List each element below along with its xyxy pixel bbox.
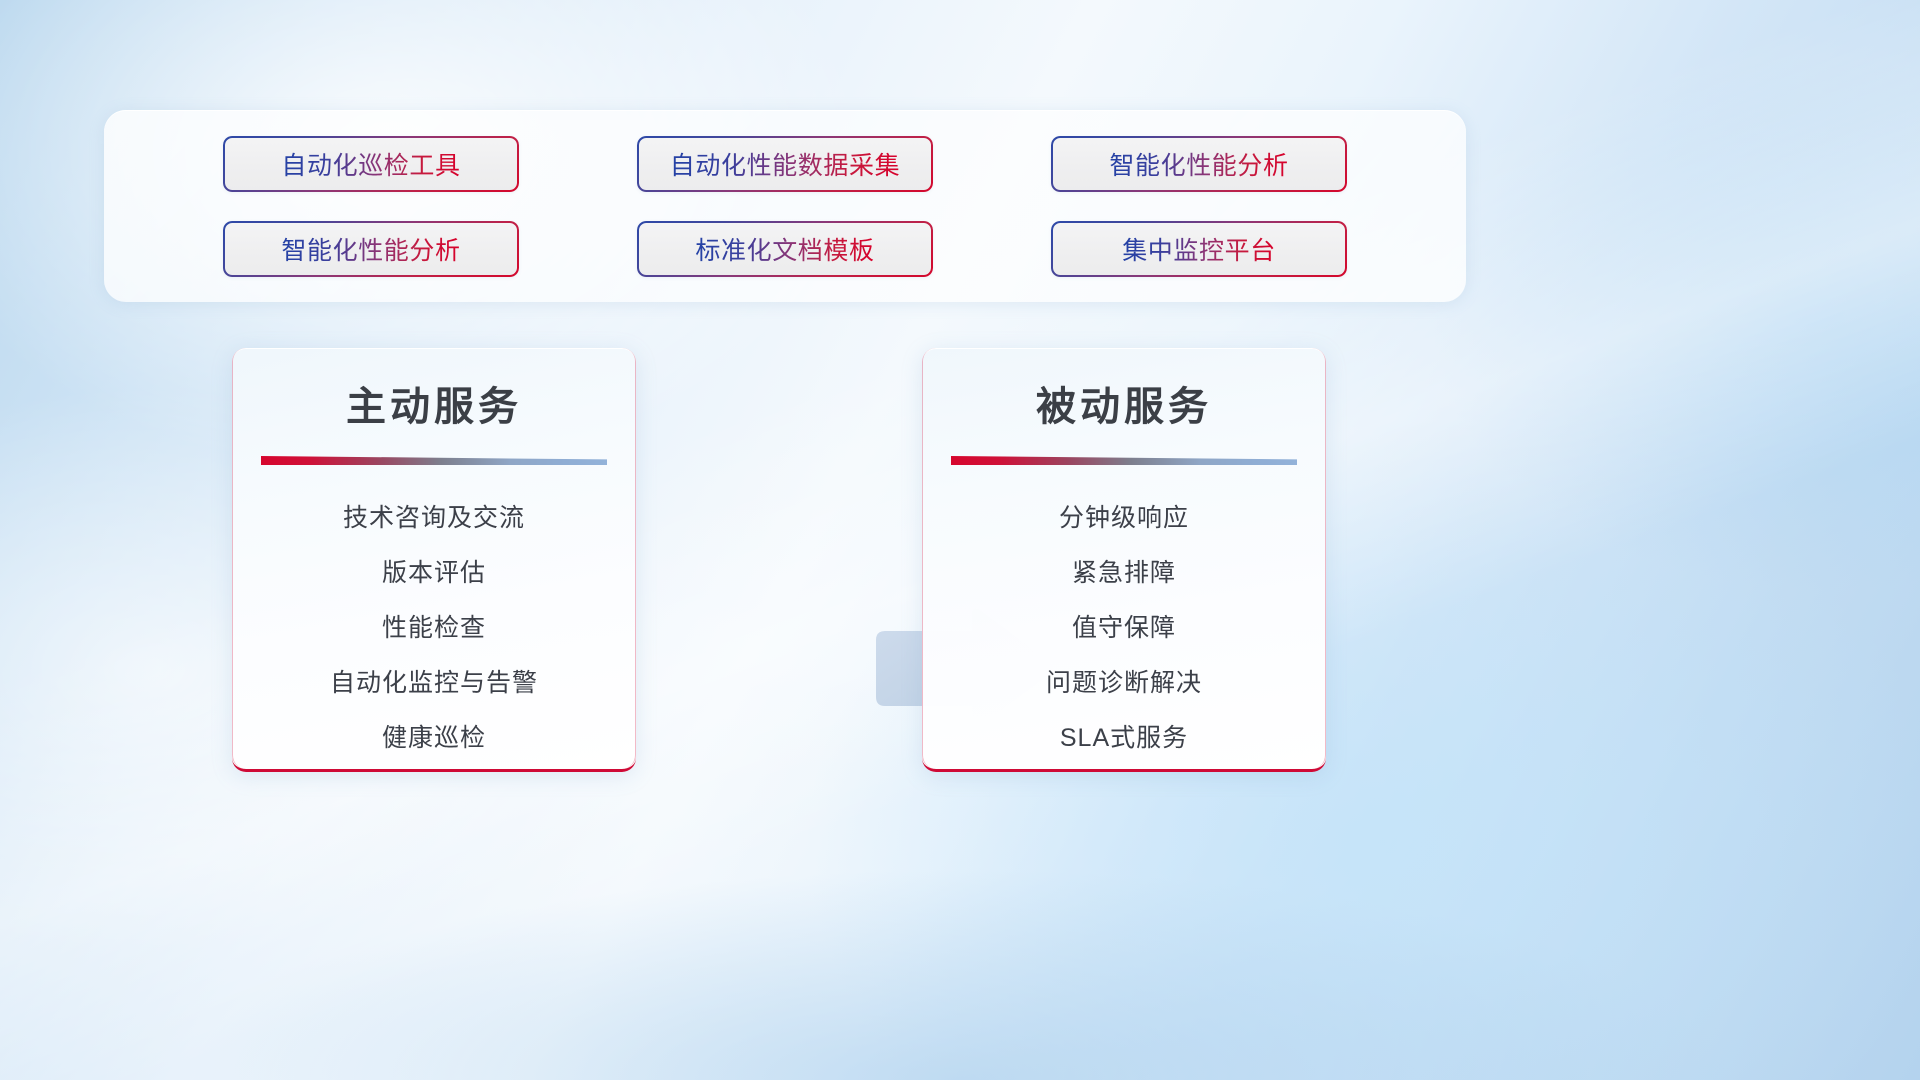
capability-chip-label: 集中监控平台 — [1122, 231, 1276, 267]
capability-chip-intelligent-performance-analysis-1[interactable]: 智能化性能分析 — [1051, 136, 1347, 192]
capability-chip-label: 自动化巡检工具 — [281, 146, 460, 182]
card-passive-service: 被动服务 分钟级响应 紧急排障 值守保障 问题诊断解决 SLA式服务 — [922, 348, 1326, 772]
card-service-list: 分钟级响应 紧急排障 值守保障 问题诊断解决 SLA式服务 — [922, 491, 1326, 766]
capability-chip-automated-inspection-tool[interactable]: 自动化巡检工具 — [223, 136, 519, 192]
card-divider — [951, 456, 1297, 465]
list-item: 问题诊断解决 — [922, 656, 1326, 711]
card-title: 被动服务 — [922, 374, 1326, 432]
list-item: 紧急排障 — [922, 546, 1326, 601]
list-item: 版本评估 — [232, 546, 636, 601]
list-item: 技术咨询及交流 — [232, 491, 636, 546]
card-service-list: 技术咨询及交流 版本评估 性能检查 自动化监控与告警 健康巡检 — [232, 491, 636, 766]
capability-chip-centralized-monitoring-platform[interactable]: 集中监控平台 — [1051, 221, 1347, 277]
list-item: SLA式服务 — [922, 711, 1326, 766]
capability-chip-label: 标准化文档模板 — [695, 231, 874, 267]
list-item: 性能检查 — [232, 601, 636, 656]
list-item: 分钟级响应 — [922, 491, 1326, 546]
capability-chip-standardized-document-template[interactable]: 标准化文档模板 — [637, 221, 933, 277]
card-divider — [261, 456, 607, 465]
capability-chip-label: 智能化性能分析 — [281, 231, 460, 267]
card-divider-bar — [261, 456, 607, 465]
card-active-service: 主动服务 技术咨询及交流 版本评估 性能检查 自动化监控与告警 健康巡检 — [232, 348, 636, 772]
capability-chip-label: 智能化性能分析 — [1109, 146, 1288, 182]
card-title: 主动服务 — [232, 374, 636, 432]
capability-panel: 自动化巡检工具 自动化性能数据采集 智能化性能分析 智能化性能分析 标准化文档模… — [104, 110, 1466, 302]
card-divider-bar — [951, 456, 1297, 465]
capability-chip-intelligent-performance-analysis-2[interactable]: 智能化性能分析 — [223, 221, 519, 277]
capability-chip-label: 自动化性能数据采集 — [670, 146, 900, 182]
list-item: 自动化监控与告警 — [232, 656, 636, 711]
list-item: 健康巡检 — [232, 711, 636, 766]
list-item: 值守保障 — [922, 601, 1326, 656]
capability-chip-automated-performance-data-collection[interactable]: 自动化性能数据采集 — [637, 136, 933, 192]
